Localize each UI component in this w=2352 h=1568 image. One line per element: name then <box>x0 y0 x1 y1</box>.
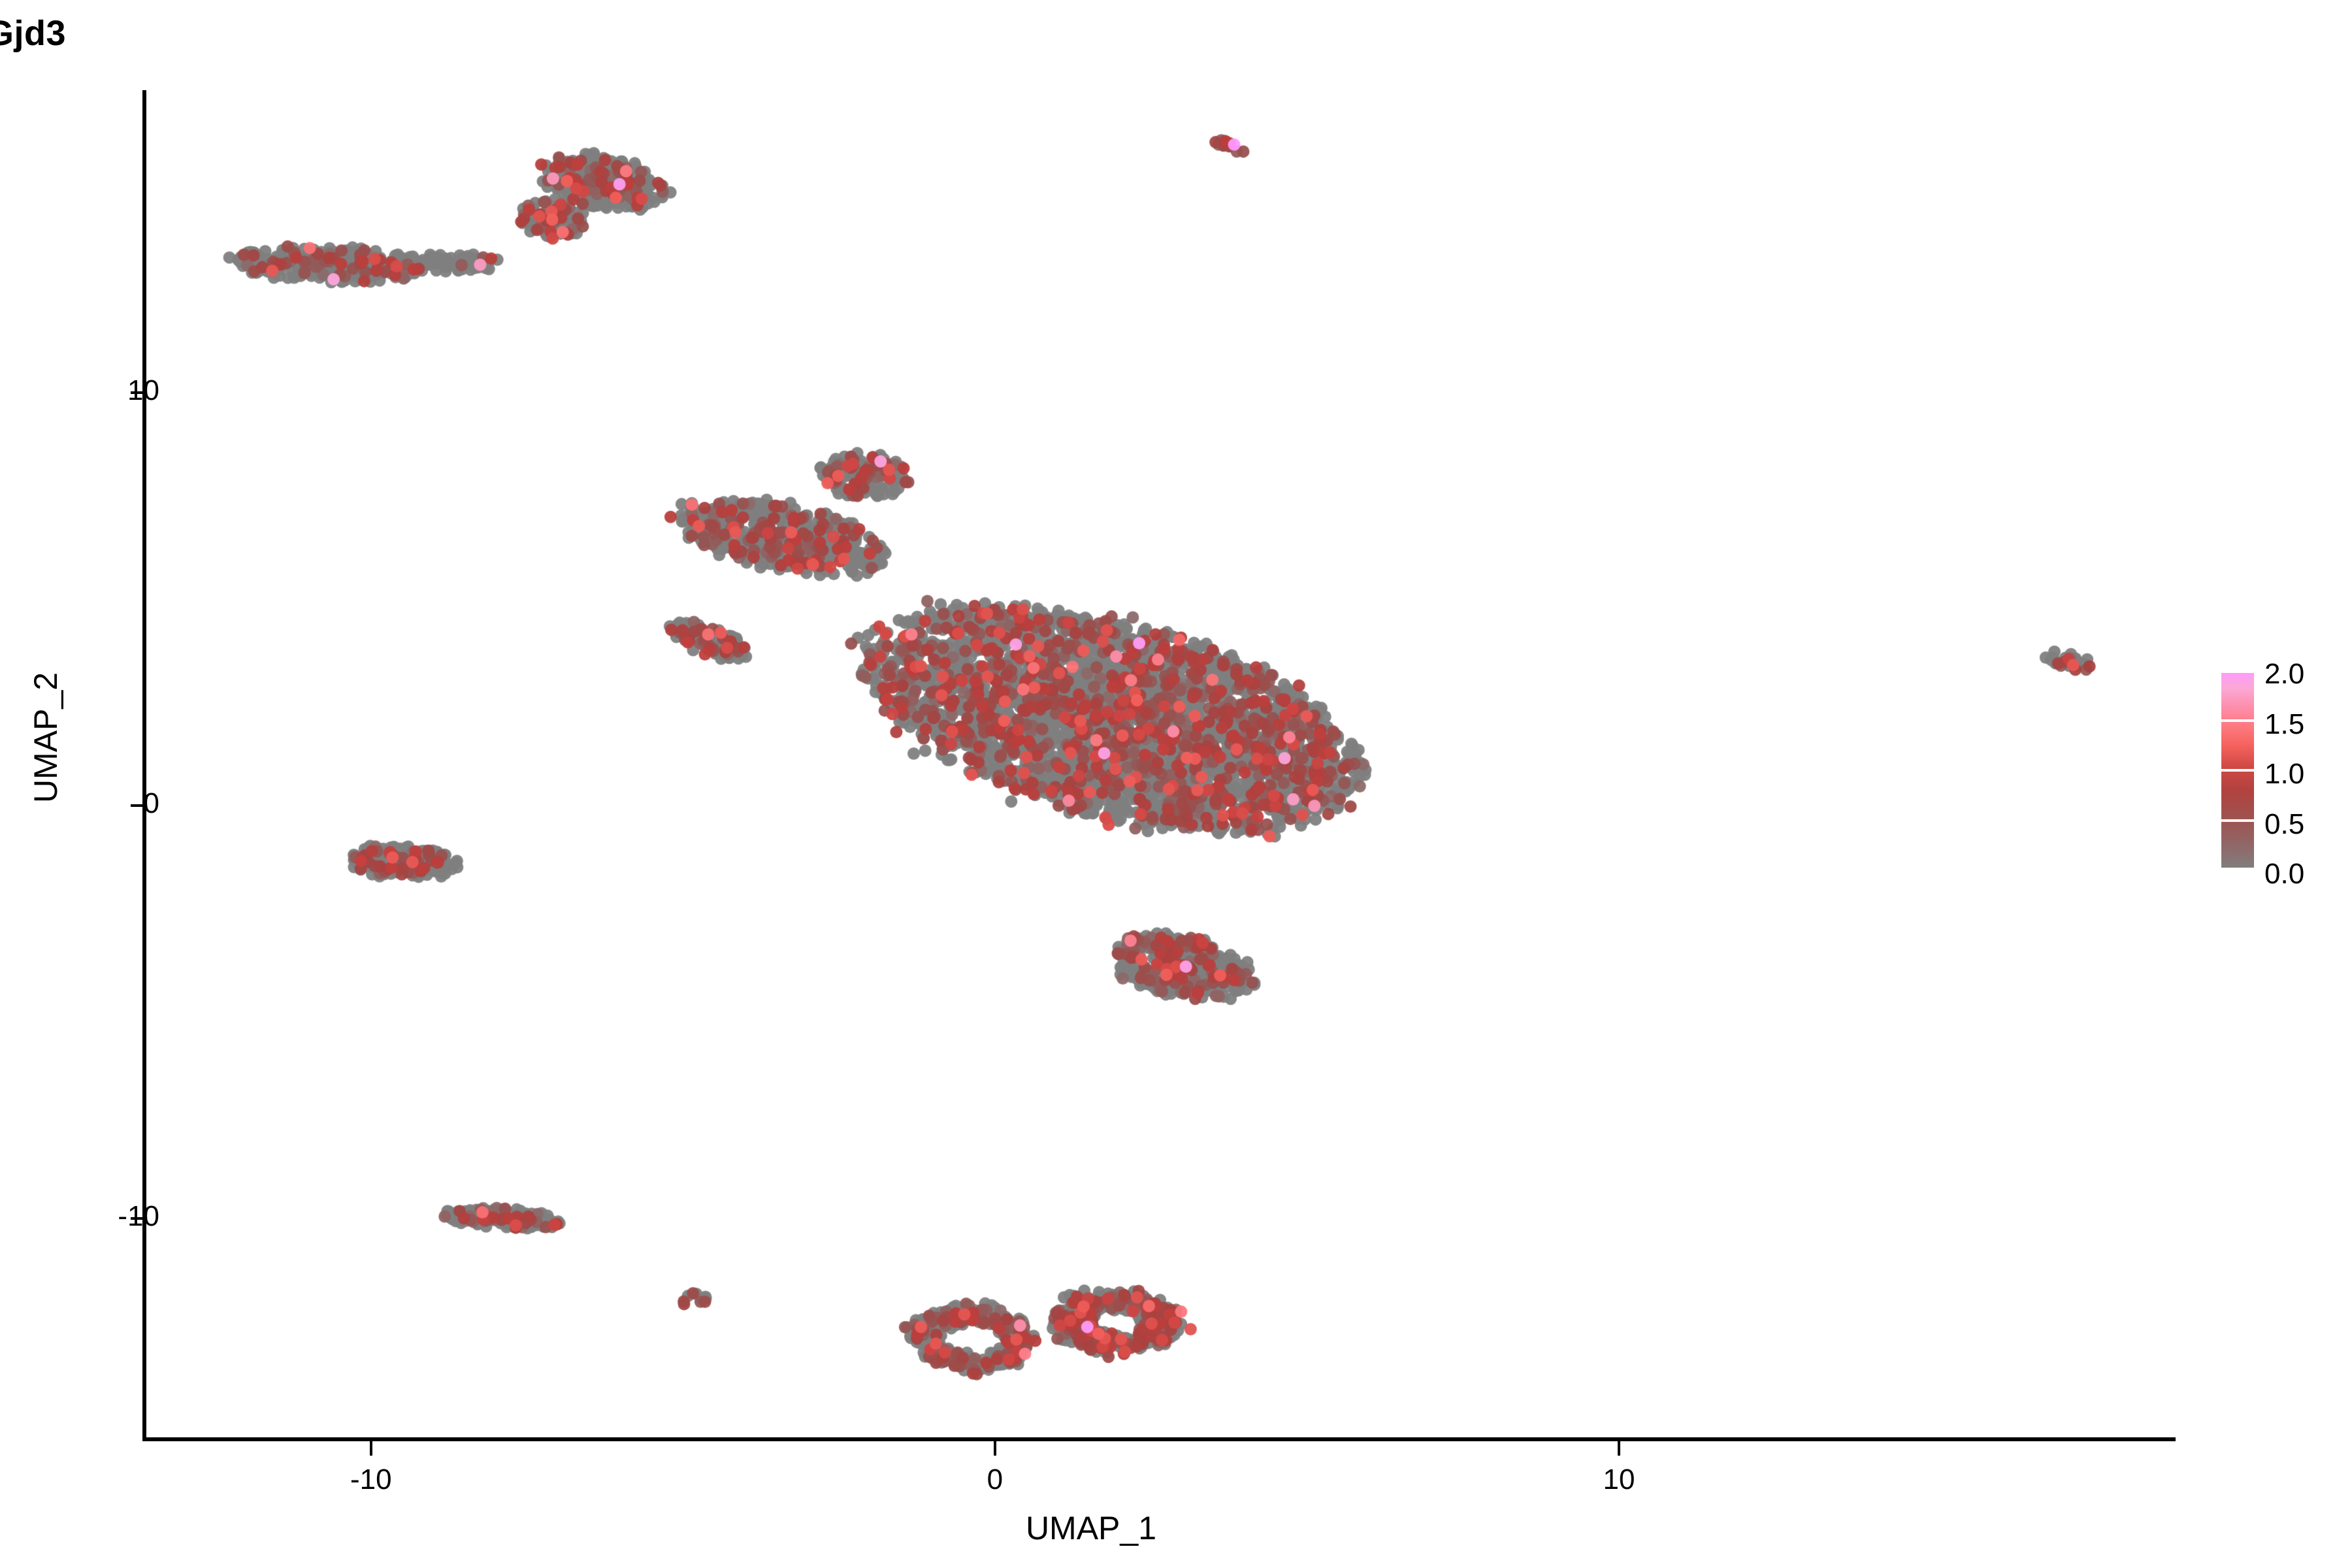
feature-plot-figure: Gjd3 -10010-10010 UMAP_1 UMAP_2 2.01.51.… <box>0 0 2352 1568</box>
x-tick-label: -10 <box>350 1463 392 1496</box>
colorbar-tick-mark <box>2221 819 2254 822</box>
y-axis-title: UMAP_2 <box>27 581 65 894</box>
x-tick-label: 0 <box>987 1463 1003 1496</box>
x-tick-mark <box>994 1441 996 1456</box>
y-tick-label: 10 <box>127 374 159 407</box>
colorbar-tick-mark <box>2221 719 2254 722</box>
x-tick-mark <box>370 1441 372 1456</box>
colorbar-tick-label: 0.5 <box>2264 808 2304 841</box>
colorbar-tick-label: 1.0 <box>2264 758 2304 791</box>
colorbar-tick-label: 2.0 <box>2264 658 2304 691</box>
scatter-points-canvas <box>146 91 2174 1437</box>
page-title: Gjd3 <box>0 13 1202 54</box>
x-axis-title: UMAP_1 <box>0 1509 2182 1547</box>
x-axis-line <box>142 1437 2176 1441</box>
plot-panel <box>146 91 2174 1437</box>
x-tick-label: 10 <box>1603 1463 1635 1496</box>
y-axis-line <box>142 90 146 1441</box>
y-tick-label: -10 <box>118 1200 159 1233</box>
colorbar-tick-label: 1.5 <box>2264 708 2304 741</box>
y-tick-label: 0 <box>144 787 159 820</box>
colorbar-tick-mark <box>2221 670 2254 673</box>
colorbar-tick-mark <box>2221 868 2254 870</box>
colorbar-tick-mark <box>2221 769 2254 772</box>
x-tick-mark <box>1618 1441 1620 1456</box>
colorbar-tick-label: 0.0 <box>2264 858 2304 890</box>
y-tick-mark <box>131 804 144 807</box>
color-legend: 2.01.51.00.50.0 <box>2221 670 2345 873</box>
